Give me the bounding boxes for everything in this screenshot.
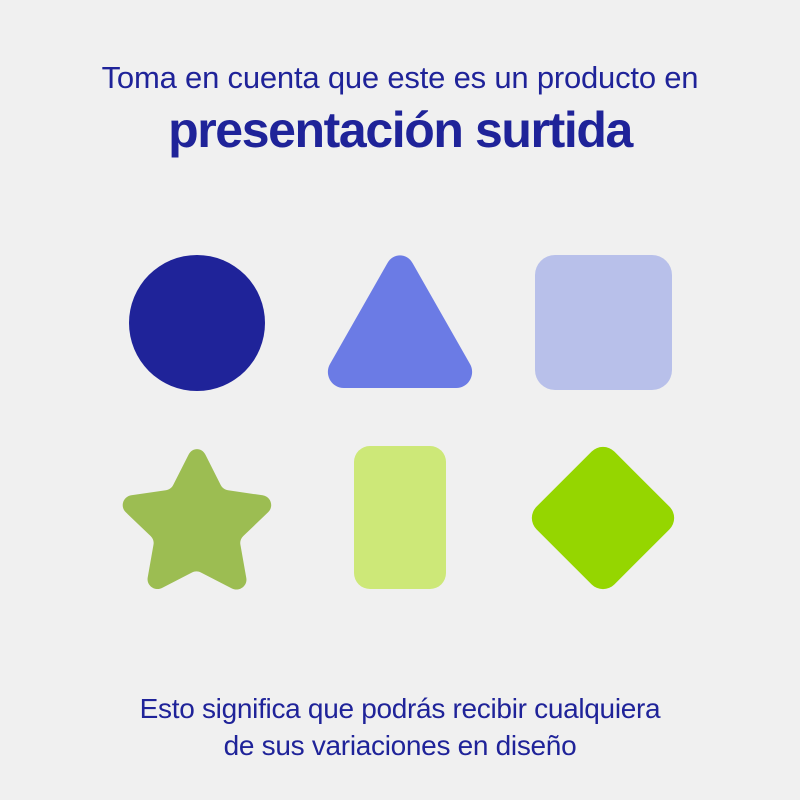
shape-cell-diamond bbox=[502, 420, 705, 615]
shape-cell-circle bbox=[95, 225, 298, 420]
shape-cell-rectangle bbox=[298, 420, 501, 615]
star-icon bbox=[122, 446, 272, 590]
footer-text: Esto significa que podrás recibir cualqu… bbox=[0, 690, 800, 764]
assorted-presentation-poster: Toma en cuenta que este es un producto e… bbox=[0, 0, 800, 800]
footer-line-2: de sus variaciones en diseño bbox=[0, 727, 800, 764]
headline-line-1: Toma en cuenta que este es un producto e… bbox=[0, 58, 800, 98]
shape-grid bbox=[95, 225, 705, 615]
diamond-icon bbox=[527, 439, 679, 597]
shape-cell-square bbox=[502, 225, 705, 420]
circle-icon bbox=[129, 255, 265, 391]
triangle-icon bbox=[325, 254, 475, 391]
rounded-rectangle-icon bbox=[354, 446, 446, 589]
headline-line-2: presentación surtida bbox=[0, 101, 800, 159]
headline: Toma en cuenta que este es un producto e… bbox=[0, 58, 800, 159]
rounded-square-icon bbox=[535, 255, 672, 390]
shape-cell-triangle bbox=[298, 225, 501, 420]
footer-line-1: Esto significa que podrás recibir cualqu… bbox=[0, 690, 800, 727]
shape-cell-star bbox=[95, 420, 298, 615]
